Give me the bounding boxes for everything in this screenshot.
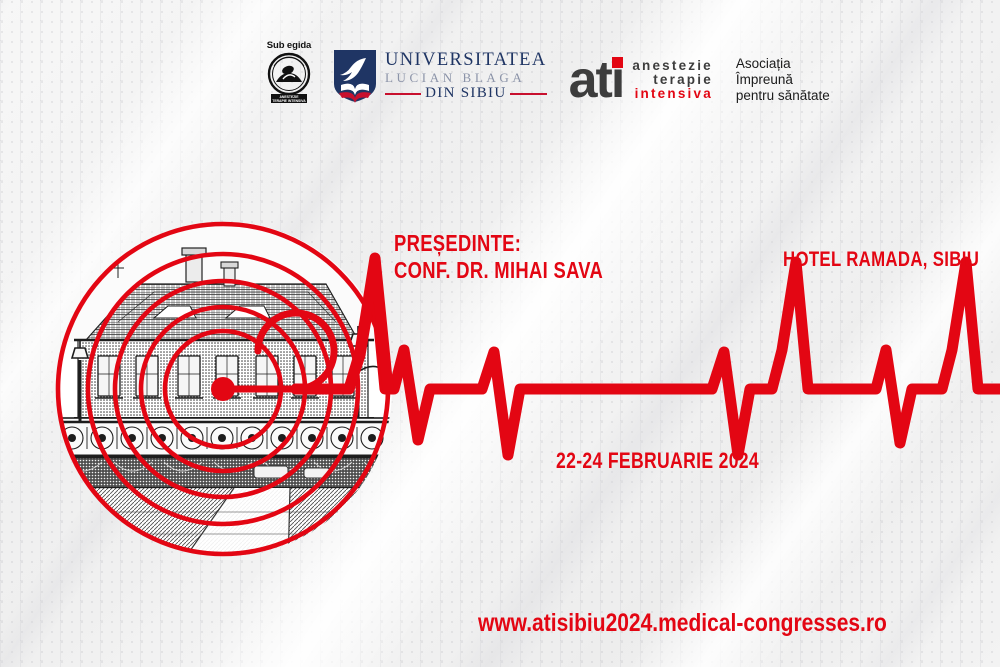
- venue-label: HOTEL RAMADA, SIBIU: [783, 248, 979, 272]
- event-dates: 22-24 FEBRUARIE 2024: [556, 448, 759, 474]
- website-url[interactable]: www.atisibiu2024.medical-congresses.ro: [478, 608, 887, 638]
- president-label: PREȘEDINTE:: [394, 230, 603, 257]
- ecg-heartbeat-line: [296, 262, 1000, 455]
- poster-canvas: Sub egida ANESTEZIE TERAPIE INTENSIVA: [0, 0, 1000, 667]
- president-block: PREȘEDINTE: CONF. DR. MIHAI SAVA: [394, 230, 603, 284]
- spiral-origin-dot: [211, 377, 235, 401]
- ecg-and-spiral-artwork: [0, 0, 1000, 667]
- president-name: CONF. DR. MIHAI SAVA: [394, 257, 603, 284]
